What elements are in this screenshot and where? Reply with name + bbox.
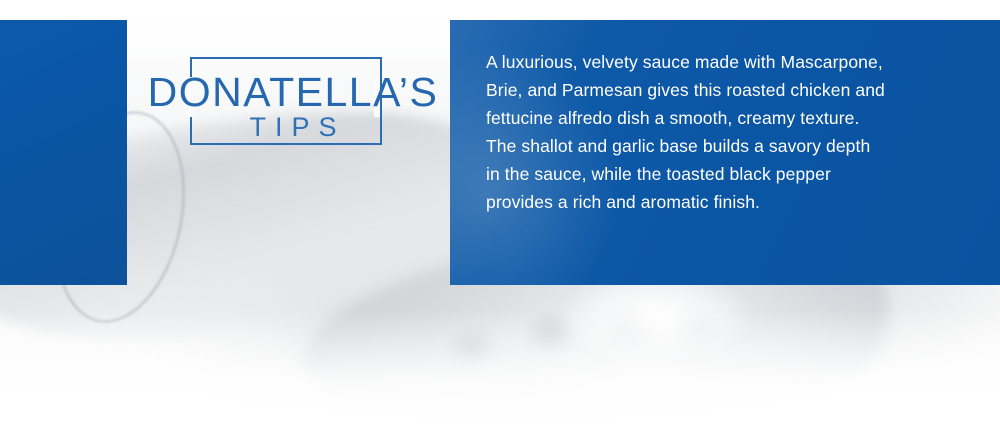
tip-line: Brie, and Parmesan gives this roasted ch… xyxy=(486,76,956,104)
tip-line: in the sauce, while the toasted black pe… xyxy=(486,160,956,188)
tip-line: fettucine alfredo dish a smooth, creamy … xyxy=(486,104,956,132)
tip-body-copy: A luxurious, velvety sauce made with Mas… xyxy=(486,48,956,216)
left-blue-block xyxy=(0,20,127,285)
brand-logo-lockup: DONATELLA’S TIPS xyxy=(143,44,443,156)
tip-line: provides a rich and aromatic finish. xyxy=(486,188,956,216)
photo-bottom-fade xyxy=(0,310,1000,440)
logo-secondary-text: TIPS xyxy=(143,112,443,142)
logo-primary-text: DONATELLA’S xyxy=(143,70,443,114)
donatellas-tips-banner: DONATELLA’S TIPS A luxurious, velvety sa… xyxy=(0,0,1000,440)
tip-line: The shallot and garlic base builds a sav… xyxy=(486,132,956,160)
tip-line: A luxurious, velvety sauce made with Mas… xyxy=(486,48,956,76)
